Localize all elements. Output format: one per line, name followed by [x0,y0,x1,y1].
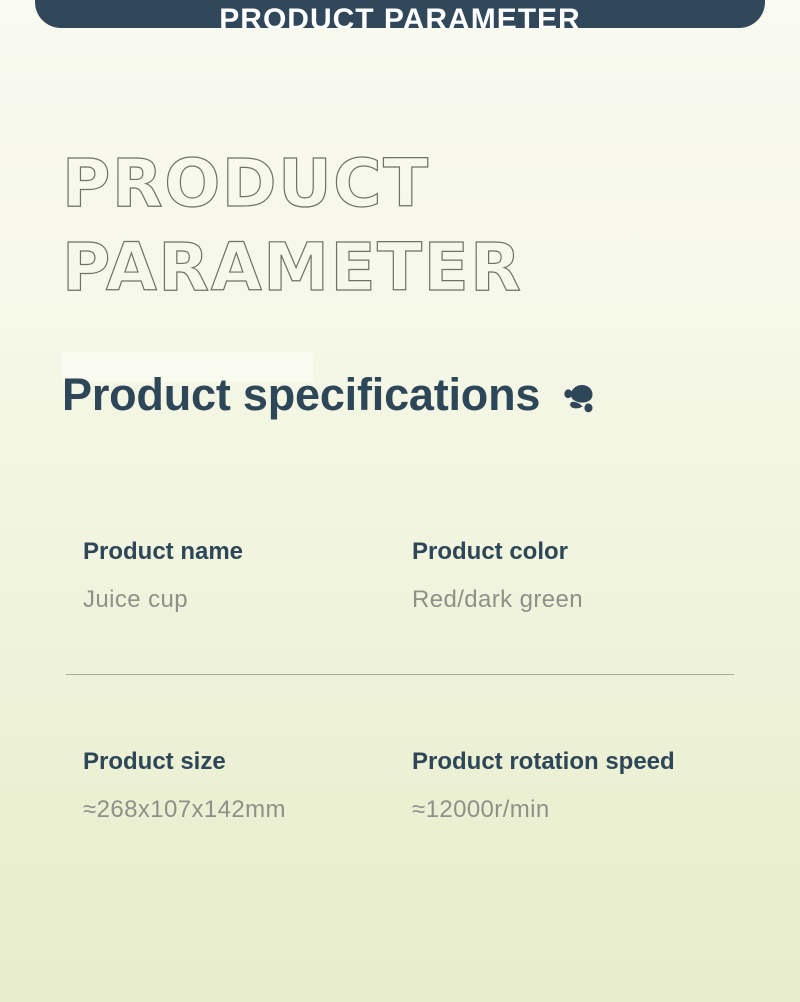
spec-label: Product size [83,750,400,774]
outline-headline: PRODUCT PARAMETER [62,142,622,310]
spec-cell-product-size: Product size ≈268x107x142mm [66,750,400,822]
section-heading-row: Product specifications [62,352,600,436]
outline-headline-line-1: PRODUCT [62,142,622,226]
spec-label: Product rotation speed [412,750,734,774]
specifications-table: Product name Juice cup Product color Red… [66,540,734,822]
spec-label: Product name [83,540,400,564]
spec-value: Juice cup [83,588,400,612]
spec-divider [66,674,734,675]
spec-cell-product-name: Product name Juice cup [66,540,400,612]
product-parameter-page: PRODUCT PARAMETER PRODUCT PARAMETER Prod… [0,0,800,1002]
outline-headline-line-2: PARAMETER [62,226,622,310]
spec-value: ≈268x107x142mm [83,798,400,822]
spec-value: Red/dark green [412,588,734,612]
spec-cell-product-color: Product color Red/dark green [400,540,734,612]
page-title: Product specifications [62,372,540,417]
spec-row-spacer [66,675,734,750]
splash-icon [558,369,600,419]
spec-row: Product name Juice cup Product color Red… [66,540,734,612]
spec-value: ≈12000r/min [412,798,734,822]
top-banner-title: PRODUCT PARAMETER [219,5,580,28]
spec-cell-rotation-speed: Product rotation speed ≈12000r/min [400,750,734,822]
spec-label: Product color [412,540,734,564]
section-heading: Product specifications [62,352,762,436]
spec-row: Product size ≈268x107x142mm Product rota… [66,750,734,822]
top-banner: PRODUCT PARAMETER [35,0,765,28]
